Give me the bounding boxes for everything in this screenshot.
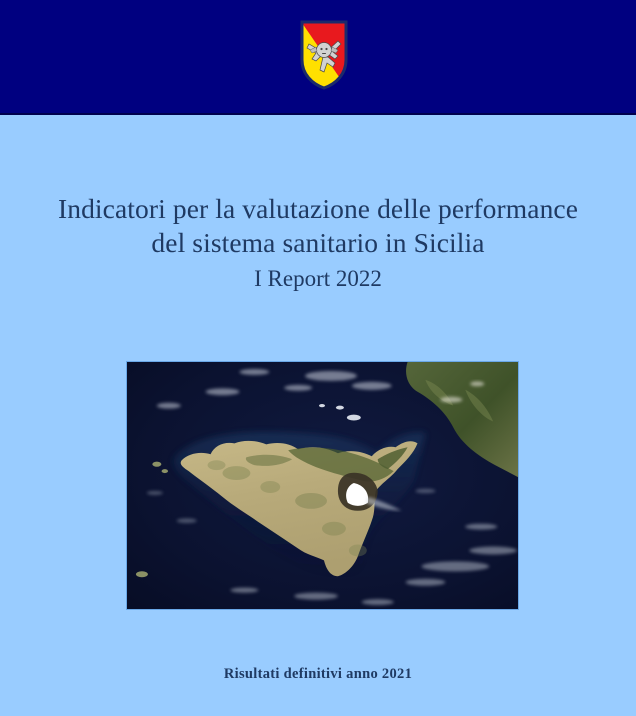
title-line-2: del sistema sanitario in Sicilia	[0, 226, 636, 260]
header-divider	[0, 113, 636, 115]
sicily-satellite-image	[126, 361, 519, 610]
cover-title-block: Indicatori per la valutazione delle perf…	[0, 192, 636, 295]
sicily-coat-of-arms-icon	[300, 20, 348, 90]
cover-page: Indicatori per la valutazione delle perf…	[0, 0, 636, 716]
results-note: Risultati definitivi anno 2021	[0, 666, 636, 683]
title-line-1: Indicatori per la valutazione delle perf…	[0, 192, 636, 226]
report-label: I Report 2022	[0, 262, 636, 295]
sicily-map-graphic	[127, 362, 518, 609]
